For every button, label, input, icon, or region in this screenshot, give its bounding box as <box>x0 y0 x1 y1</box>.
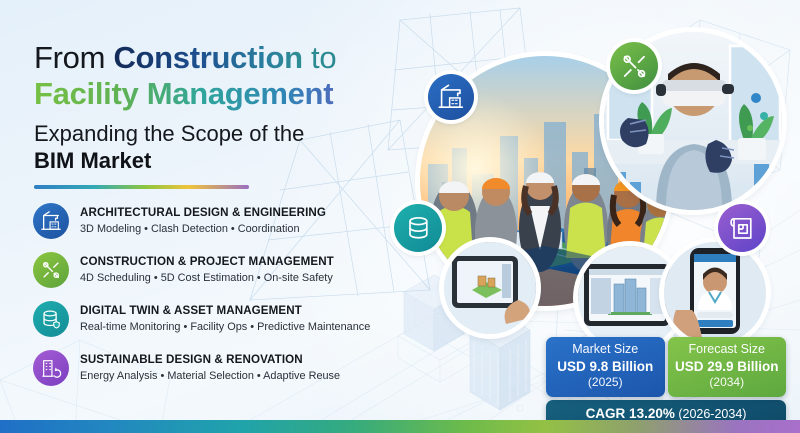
feature-subtitle: Energy Analysis • Material Selection • A… <box>80 369 340 383</box>
bim-market-infographic: From Construction to Facility Management… <box>0 0 800 433</box>
tools-icon <box>33 252 69 288</box>
cagr-period: (2026-2034) <box>675 407 747 421</box>
forecast-size-label: Forecast Size <box>672 342 783 357</box>
forecast-size-box: Forecast Size USD 29.9 Billion (2034) <box>668 337 787 397</box>
headline-block: From Construction to Facility Management… <box>34 40 434 174</box>
headline-word-to: to <box>303 40 337 75</box>
feature-subtitle: 4D Scheduling • 5D Cost Estimation • On-… <box>80 271 334 285</box>
feature-item-construction-management: CONSTRUCTION & PROJECT MANAGEMENT 4D Sch… <box>33 247 415 293</box>
headline-word-from: From <box>34 40 113 75</box>
cagr-value: CAGR 13.20% <box>586 406 675 421</box>
crane-badge-icon <box>428 74 474 120</box>
headline-line-2: Facility Management <box>34 76 434 111</box>
feature-subtitle: Real-time Monitoring • Facility Ops • Pr… <box>80 320 370 334</box>
forecast-size-value: USD 29.9 Billion <box>672 358 783 375</box>
headline-word-construction: Construction <box>113 40 302 75</box>
market-size-label: Market Size <box>550 342 661 357</box>
forecast-size-year: (2034) <box>672 375 783 390</box>
feature-title: CONSTRUCTION & PROJECT MANAGEMENT <box>80 255 334 269</box>
feature-item-digital-twin: DIGITAL TWIN & ASSET MANAGEMENT Real-tim… <box>33 296 415 342</box>
feature-subtitle: 3D Modeling • Clash Detection • Coordina… <box>80 222 326 236</box>
building-recycle-icon <box>33 350 69 386</box>
database-shield-icon <box>33 301 69 337</box>
feature-title: SUSTAINABLE DESIGN & RENOVATION <box>80 353 340 367</box>
market-stats: Market Size USD 9.8 Billion (2025) Forec… <box>546 337 786 429</box>
feature-title: ARCHITECTURAL DESIGN & ENGINEERING <box>80 206 326 220</box>
feature-list: ARCHITECTURAL DESIGN & ENGINEERING 3D Mo… <box>33 198 415 394</box>
subheadline-line-2: BIM Market <box>34 147 434 174</box>
market-size-value: USD 9.8 Billion <box>550 358 661 375</box>
headline-line-1: From Construction to <box>34 40 434 75</box>
feature-title: DIGITAL TWIN & ASSET MANAGEMENT <box>80 304 370 318</box>
feature-item-sustainable-design: SUSTAINABLE DESIGN & RENOVATION Energy A… <box>33 345 415 391</box>
blueprint-badge-icon <box>718 204 766 252</box>
tablet-bim-model-photo <box>444 242 536 334</box>
stats-row: Market Size USD 9.8 Billion (2025) Forec… <box>546 337 786 397</box>
bottom-gradient-bar <box>0 420 800 433</box>
crane-icon <box>33 203 69 239</box>
market-size-box: Market Size USD 9.8 Billion (2025) <box>546 337 665 397</box>
tools-badge-icon <box>610 42 658 90</box>
smartphone-video-call-photo <box>664 242 766 344</box>
subheadline-line-1: Expanding the Scope of the <box>34 120 434 147</box>
market-size-year: (2025) <box>550 375 661 390</box>
gradient-divider <box>34 185 249 189</box>
feature-item-architectural-design: ARCHITECTURAL DESIGN & ENGINEERING 3D Mo… <box>33 198 415 244</box>
